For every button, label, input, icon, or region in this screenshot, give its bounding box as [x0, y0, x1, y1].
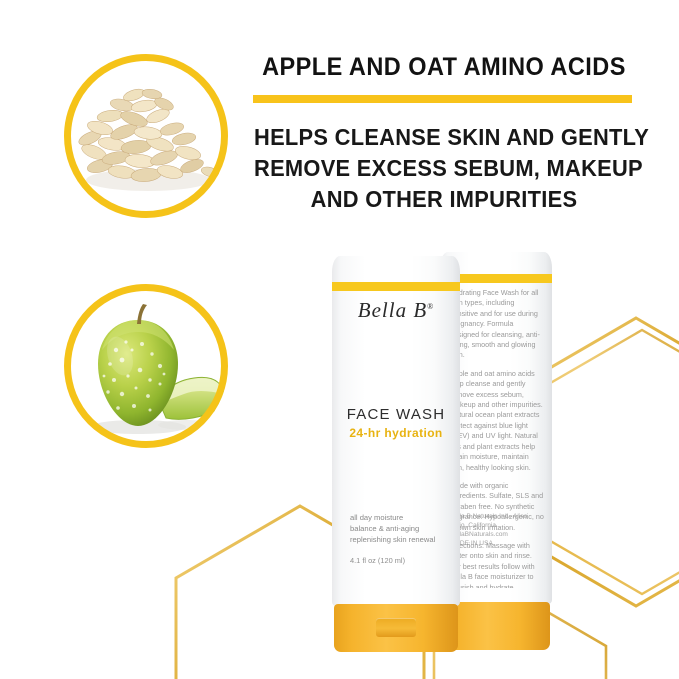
oats-photo	[64, 54, 228, 218]
back-footer-line-1: Bella B Naturals Inc., Aliso Viejo, Cali…	[450, 512, 544, 530]
ingredient-circle-apple	[64, 284, 228, 448]
product-infographic: APPLE AND OAT AMINO ACIDS HELPS CLEANSE …	[0, 0, 679, 679]
headline-divider-bar	[253, 95, 632, 103]
tube-front-body: Bella B® FACE WASH 24-hr hydration all d…	[332, 256, 460, 606]
apple-photo	[64, 284, 228, 448]
brand-name: Bella B	[358, 298, 427, 322]
back-paragraph-1: Hydrating Face Wash for all skin types, …	[450, 288, 544, 361]
back-footer-line-3: MADE IN USA	[450, 539, 544, 548]
benefit-line-2: balance & anti-aging	[350, 523, 448, 534]
subheadline: HELPS CLEANSE SKIN AND GENTLY REMOVE EXC…	[254, 122, 634, 215]
brand-logo: Bella B®	[332, 298, 460, 323]
subheadline-line-1: HELPS CLEANSE SKIN AND GENTLY	[254, 122, 634, 153]
headline: APPLE AND OAT AMINO ACIDS	[260, 52, 628, 82]
back-paragraph-2: Apple and oat amino acids help cleanse a…	[450, 369, 544, 473]
product-tube-front: Bella B® FACE WASH 24-hr hydration all d…	[332, 256, 460, 652]
subheadline-line-2: REMOVE EXCESS SEBUM, MAKEUP	[254, 153, 634, 184]
benefit-line-1: all day moisture	[350, 512, 448, 523]
registered-trademark-icon: ®	[427, 302, 434, 311]
product-tagline: 24-hr hydration	[332, 426, 460, 440]
product-name: FACE WASH	[332, 406, 460, 423]
benefit-line-3: replenishing skin renewal	[350, 534, 448, 545]
back-footer-line-2: BellaBNaturals.com	[450, 530, 544, 539]
ingredient-circle-oats	[64, 54, 228, 218]
product-benefits: all day moisture balance & anti-aging re…	[350, 512, 448, 545]
tube-front-cap	[334, 604, 458, 652]
cap-flip-notch	[376, 618, 416, 637]
tube-front-stripe	[332, 282, 460, 291]
tube-back-footer: Bella B Naturals Inc., Aliso Viejo, Cali…	[450, 512, 544, 548]
subheadline-line-3: AND OTHER IMPURITIES	[254, 184, 634, 215]
net-weight: 4.1 fl oz (120 ml)	[350, 556, 405, 565]
